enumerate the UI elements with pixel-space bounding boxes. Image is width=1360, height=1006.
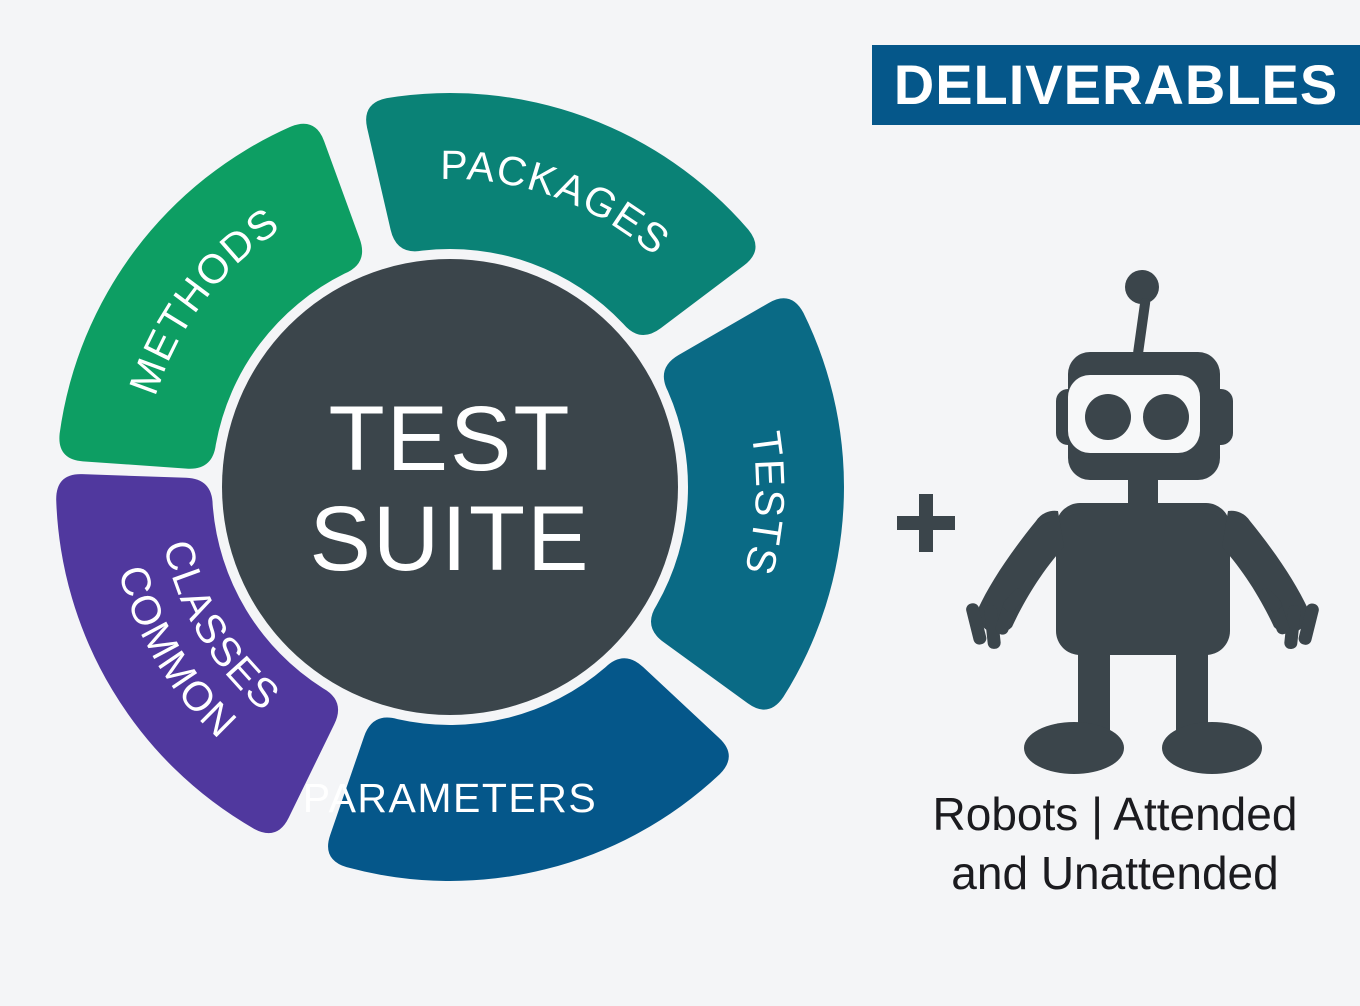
robot-left-foot-icon [1024, 722, 1124, 774]
deliverables-banner: DELIVERABLES [872, 45, 1360, 125]
diagram-canvas: DELIVERABLES TEST SUITE [0, 0, 1360, 1006]
test-suite-donut-diagram: TEST SUITE METHODS PACKAGES TESTS PARAME… [30, 70, 875, 915]
robot-caption-line1: Robots | Attended [880, 785, 1350, 844]
robot-antenna-rod-icon [1133, 298, 1151, 357]
robot-neck-icon [1128, 473, 1158, 505]
center-title-line2: SUITE [310, 488, 591, 590]
robot-illustration [960, 265, 1325, 775]
robot-left-eye-icon [1085, 394, 1131, 440]
plus-icon [897, 494, 955, 552]
robot-caption: Robots | Attended and Unattended [880, 785, 1350, 903]
deliverables-title: DELIVERABLES [894, 57, 1339, 113]
center-title-line1: TEST [328, 388, 571, 490]
robot-torso-icon [1056, 503, 1230, 655]
robot-right-foot-icon [1162, 722, 1262, 774]
plus-icon-vertical-bar [919, 494, 933, 552]
segment-label-parameters: PARAMETERS [303, 775, 597, 821]
robot-caption-line2: and Unattended [880, 844, 1350, 903]
robot-right-eye-icon [1143, 394, 1189, 440]
